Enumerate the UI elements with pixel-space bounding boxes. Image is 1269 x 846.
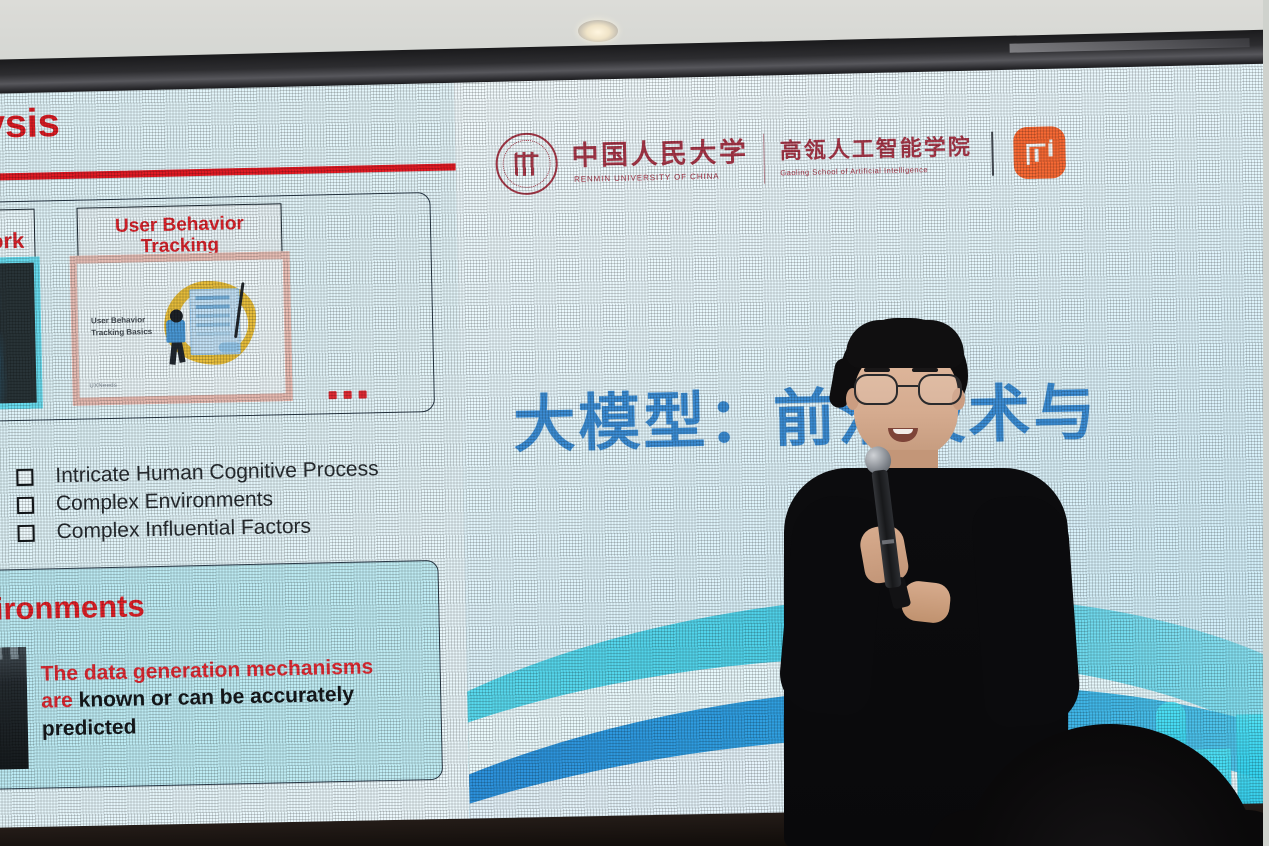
- ellipsis-dot-2: [344, 391, 352, 399]
- bezel-highlight: [1010, 38, 1250, 53]
- ellipsis-dot-3: [359, 390, 367, 398]
- thumb-card-b-image: User Behavior Tracking Basics UXNeeds: [70, 251, 293, 406]
- logo-divider-2: [991, 132, 994, 176]
- list-item: Complex Influential Factors: [7, 511, 470, 545]
- bullet-list: Intricate Human Cognitive Process Comple…: [0, 455, 470, 550]
- school-name-cn: 高瓴人工智能学院: [780, 136, 972, 162]
- bullet-text: Complex Environments: [56, 487, 274, 516]
- university-name-en: RENMIN UNIVERSITY OF CHINA: [574, 171, 749, 184]
- ellipsis-dots: [329, 390, 367, 399]
- thumb-card-a-image: [0, 257, 43, 413]
- speaker-eyebrows: [864, 368, 890, 372]
- bullet-text: Intricate Human Cognitive Process: [55, 457, 379, 488]
- speaker-fringe: [846, 320, 964, 368]
- checkbox-icon: [17, 496, 34, 513]
- right-wall-strip: [1263, 0, 1269, 846]
- left-slide-title-rule: [0, 163, 458, 183]
- checkbox-icon: [17, 524, 34, 541]
- university-name-cn: 中国人民大学: [571, 139, 749, 170]
- mi-dot: [1049, 139, 1053, 142]
- logo-bar: 中国人民大学 RENMIN UNIVERSITY OF CHINA 高瓴人工智能…: [495, 121, 1067, 195]
- person-body: [166, 319, 185, 342]
- speaker-arm-right: [970, 493, 1082, 729]
- lab-photo-thumbnail: [0, 647, 29, 771]
- eyeglasses-icon: [852, 374, 964, 402]
- ellipsis-dot-1: [329, 391, 337, 399]
- left-slide: or Analysis ork User Behavior Tracking: [0, 59, 470, 846]
- checkbox-icon: [16, 468, 33, 485]
- ceiling-downlight-icon: [578, 20, 618, 42]
- glasses-bridge: [896, 385, 918, 387]
- thumb-card-b-inner-text: User Behavior Tracking Basics: [91, 314, 152, 339]
- thumb-card-a-caption-text: ork: [0, 228, 25, 255]
- lens-right: [918, 374, 962, 405]
- highlight-quote: The data generation mechanisms are known…: [40, 653, 392, 743]
- thumb-card-b-caption-line1: User Behavior: [115, 213, 244, 237]
- school-name-en: Gaoling School of Artificial Intelligenc…: [780, 164, 972, 177]
- left-slide-title: or Analysis: [0, 96, 269, 150]
- thumb-b-inner-line2: Tracking Basics: [91, 326, 152, 339]
- highlight-quote-black: known or can be accurately predicted: [42, 683, 355, 740]
- mi-glyph: [1027, 143, 1053, 162]
- bullet-text: Complex Influential Factors: [56, 515, 311, 545]
- network-map-graphic: [0, 263, 37, 407]
- thumb-b-inner-line1: User Behavior: [91, 314, 152, 327]
- logo-divider-1: [763, 134, 765, 184]
- speaker-arm-left: [777, 492, 888, 717]
- ruc-seal-icon: [495, 132, 558, 195]
- thumb-b-inner-logo: UXNeeds: [89, 383, 117, 390]
- cloud-icon: [218, 342, 240, 352]
- presentation-scene: or Analysis ork User Behavior Tracking: [0, 0, 1269, 846]
- lens-left: [854, 374, 898, 405]
- mi-logo-icon: [1013, 126, 1066, 179]
